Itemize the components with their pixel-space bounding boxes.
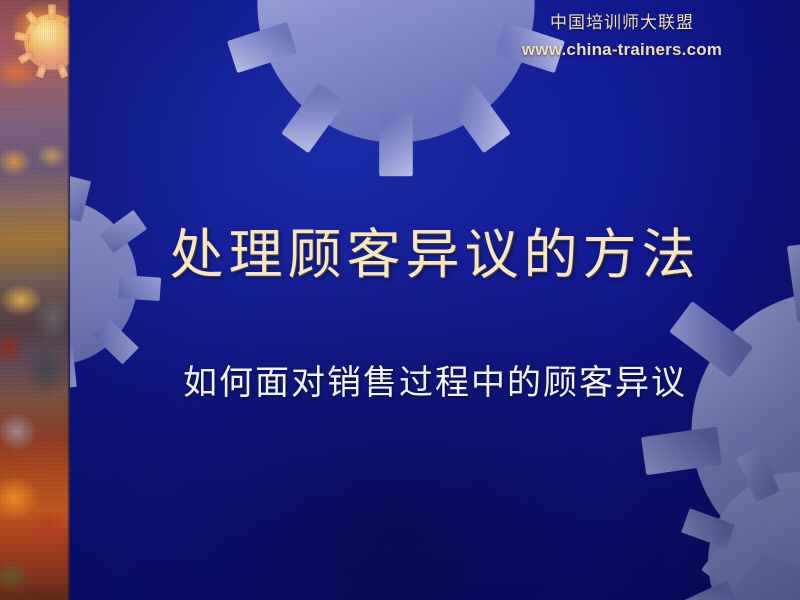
strip-edge-shadow — [67, 0, 70, 600]
background-texture — [0, 0, 800, 600]
slide-title: 处理顾客异议的方法 — [70, 222, 800, 288]
website-url: www.china-trainers.com — [472, 36, 772, 64]
left-decorative-strip — [0, 0, 70, 600]
header-block: 中国培训师大联盟 www.china-trainers.com — [472, 10, 772, 64]
strip-grain — [0, 0, 70, 600]
slide-subtitle: 如何面对销售过程中的顾客异议 — [70, 360, 800, 406]
presentation-slide: 中国培训师大联盟 www.china-trainers.com 处理顾客异议的方… — [0, 0, 800, 600]
title-block: 处理顾客异议的方法 — [70, 222, 800, 288]
organization-name: 中国培训师大联盟 — [472, 10, 772, 36]
subtitle-block: 如何面对销售过程中的顾客异议 — [70, 360, 800, 406]
